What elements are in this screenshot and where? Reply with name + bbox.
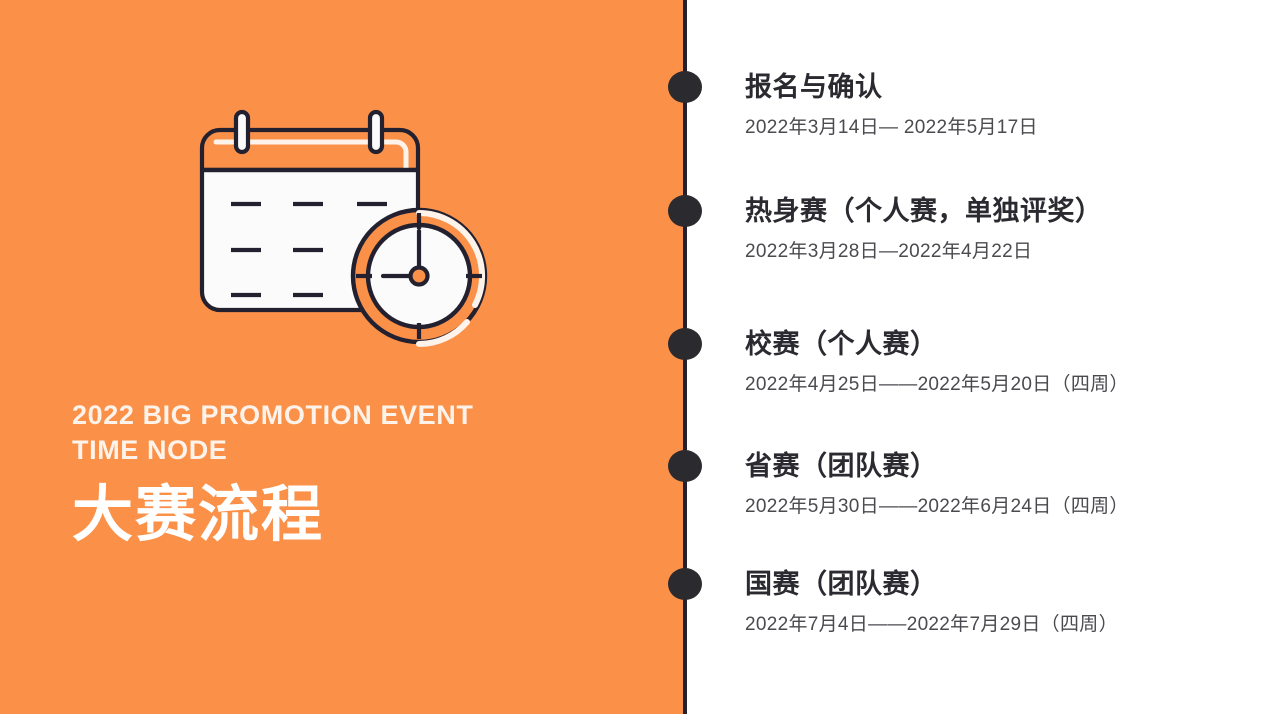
- calendar-ring-left: [236, 112, 248, 152]
- timeline-item-4-text: 省赛（团队赛） 2022年5月30日——2022年6月24日（四周）: [745, 450, 1265, 519]
- timeline-item-2-text: 热身赛（个人赛，单独评奖） 2022年3月28日—2022年4月22日: [745, 195, 1265, 264]
- timeline-item-1-date: 2022年3月14日— 2022年5月17日: [745, 116, 1265, 140]
- timeline-list: 报名与确认 2022年3月14日— 2022年5月17日 热身赛（个人赛，单独评…: [685, 0, 1268, 714]
- timeline-item-2-title: 热身赛（个人赛，单独评奖）: [745, 195, 1265, 227]
- title-block: 2022 BIG PROMOTION EVENT TIME NODE 大赛流程: [72, 398, 632, 548]
- title-chinese: 大赛流程: [72, 480, 632, 548]
- timeline-item-3-text: 校赛（个人赛） 2022年4月25日——2022年5月20日（四周）: [745, 328, 1265, 397]
- timeline-item-5-text: 国赛（团队赛） 2022年7月4日——2022年7月29日（四周）: [745, 568, 1265, 637]
- timeline-dot-icon: [668, 450, 702, 482]
- timeline-dot-icon: [668, 71, 702, 103]
- timeline-item-3-title: 校赛（个人赛）: [745, 328, 1265, 360]
- timeline-item-5-date: 2022年7月4日——2022年7月29日（四周）: [745, 613, 1265, 637]
- calendar-ring-right: [370, 112, 382, 152]
- title-english: 2022 BIG PROMOTION EVENT TIME NODE: [72, 398, 632, 468]
- timeline-dot-icon: [668, 328, 702, 360]
- timeline-item-5-title: 国赛（团队赛）: [745, 568, 1265, 600]
- calendar-clock-illustration: [180, 100, 510, 360]
- timeline-item-3-date: 2022年4月25日——2022年5月20日（四周）: [745, 373, 1265, 397]
- timeline-item-1-text: 报名与确认 2022年3月14日— 2022年5月17日: [745, 71, 1265, 140]
- timeline-item-4-title: 省赛（团队赛）: [745, 450, 1265, 482]
- timeline-dot-icon: [668, 195, 702, 227]
- clock-icon: [353, 210, 485, 344]
- timeline-item-2-date: 2022年3月28日—2022年4月22日: [745, 240, 1265, 264]
- timeline-item-1-title: 报名与确认: [745, 71, 1265, 103]
- timeline-dot-icon: [668, 568, 702, 600]
- clock-center-dot: [411, 268, 428, 285]
- slide-root: 2022 BIG PROMOTION EVENT TIME NODE 大赛流程 …: [0, 0, 1268, 714]
- timeline-item-4-date: 2022年5月30日——2022年6月24日（四周）: [745, 495, 1265, 519]
